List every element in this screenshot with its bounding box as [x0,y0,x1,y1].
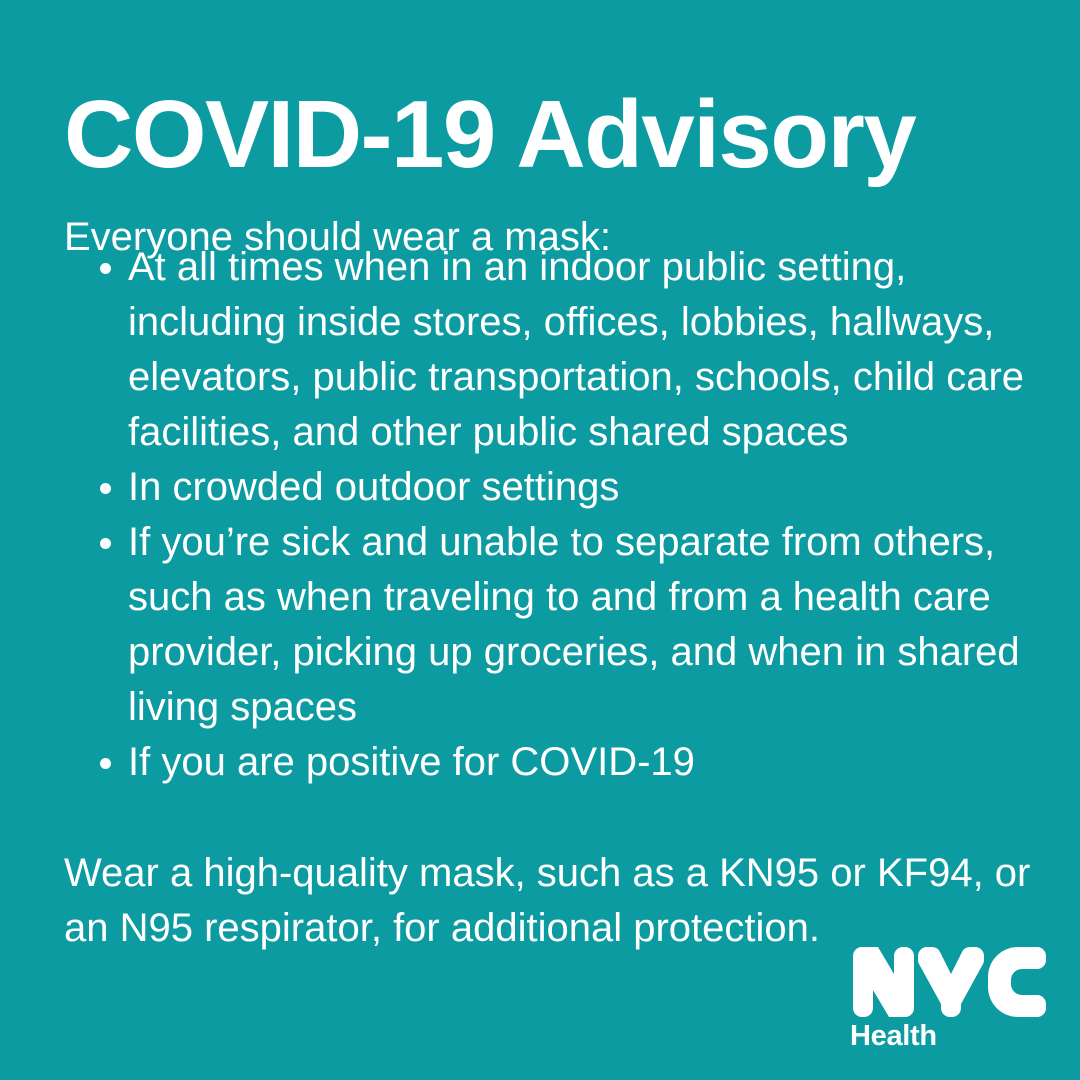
list-item: If you are positive for COVID-19 [64,735,1054,790]
bullet-icon [100,483,111,494]
list-item-label: In crowded outdoor settings [128,465,619,509]
list-item: In crowded outdoor settings [64,460,1054,515]
nyc-health-logo: ™ Health [850,946,1050,1056]
covid-advisory-card: COVID-19 Advisory Everyone should wear a… [0,0,1080,1080]
closing-text: Wear a high-quality mask, such as a KN95… [64,846,1039,956]
list-item: At all times when in an indoor public se… [64,240,1054,460]
logo-wordmark-label: Health [850,1022,1050,1051]
list-item-label: At all times when in an indoor public se… [128,245,1024,454]
list-item-label: If you’re sick and unable to separate fr… [128,520,1020,729]
bullet-icon [100,263,111,274]
bullet-icon [100,758,111,769]
list-item: If you’re sick and unable to separate fr… [64,515,1054,735]
list-item-label: If you are positive for COVID-19 [128,740,695,784]
trademark-text: ™ [1033,948,1044,960]
bullet-icon [100,538,111,549]
mask-guidance-list: At all times when in an indoor public se… [64,240,1054,790]
page-title: COVID-19 Advisory [64,81,1044,189]
nyc-logo-icon: ™ [850,946,1050,1018]
